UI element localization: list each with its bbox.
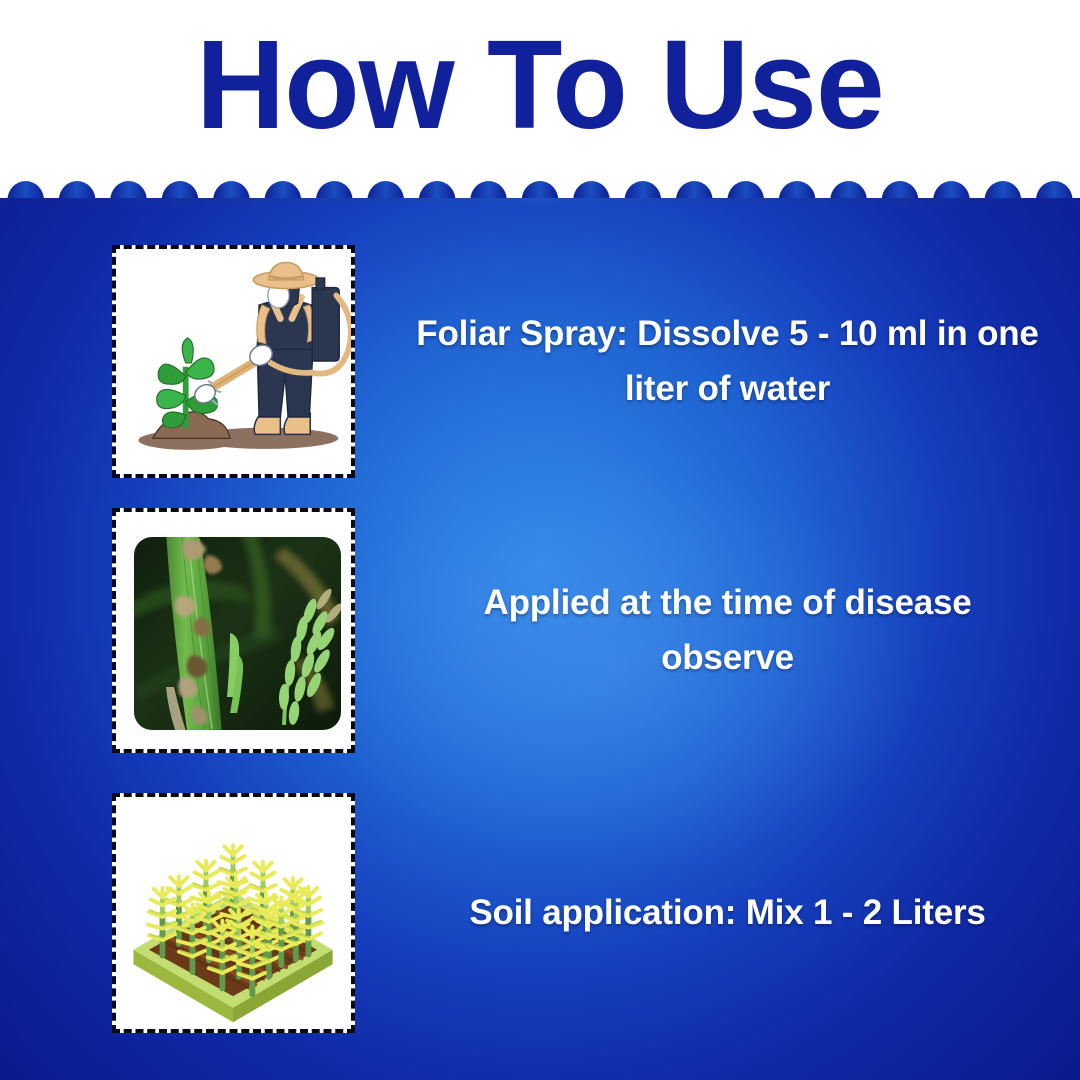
step-2-image-frame (112, 508, 355, 753)
instructions-panel: Foliar Spray: Dissolve 5 - 10 ml in one … (0, 199, 1080, 1080)
step-3-image-frame (112, 793, 355, 1033)
step-row-1: Foliar Spray: Dissolve 5 - 10 ml in one … (0, 245, 1080, 478)
page-title: How To Use (196, 22, 884, 148)
step-1-image-frame (112, 245, 355, 478)
step-2-caption: Applied at the time of disease observe (413, 576, 1042, 685)
rice-blast-disease-icon (134, 537, 341, 730)
step-1-caption: Foliar Spray: Dissolve 5 - 10 ml in one … (413, 307, 1042, 416)
step-row-2: Applied at the time of disease observe (0, 508, 1080, 753)
diseased-rice-leaf-photo (134, 537, 341, 730)
isometric-crop-field-icon (116, 797, 351, 1029)
farmer-knapsack-sprayer-icon (116, 249, 351, 474)
step-3-caption: Soil application: Mix 1 - 2 Liters (413, 886, 1042, 940)
header-banner: How To Use (0, 0, 1080, 199)
step-row-3: Soil application: Mix 1 - 2 Liters (0, 793, 1080, 1033)
